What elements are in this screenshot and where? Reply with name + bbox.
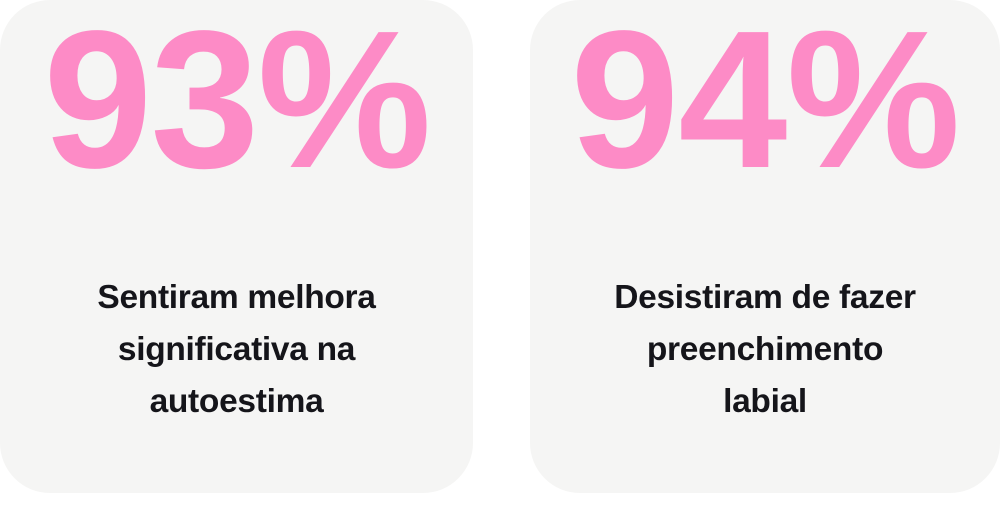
caption-line: significativa na (28, 324, 445, 376)
stat-card-preenchimento: 94% Desistiram de fazer preenchimento la… (530, 0, 1000, 493)
caption-line: autoestima (28, 376, 445, 428)
stat-card-autoestima: 93% Sentiram melhora significativa na au… (0, 0, 473, 493)
stat-value-93-percent: 93% (0, 0, 473, 216)
stat-caption-preenchimento: Desistiram de fazer preenchimento labial (550, 272, 980, 428)
caption-line: labial (550, 376, 980, 428)
caption-line: Desistiram de fazer (550, 272, 980, 324)
caption-line: Sentiram melhora (28, 272, 445, 324)
caption-line: preenchimento (550, 324, 980, 376)
stat-caption-autoestima: Sentiram melhora significativa na autoes… (28, 272, 445, 428)
stats-board: 93% Sentiram melhora significativa na au… (0, 0, 1000, 509)
stat-value-94-percent: 94% (530, 0, 1000, 216)
